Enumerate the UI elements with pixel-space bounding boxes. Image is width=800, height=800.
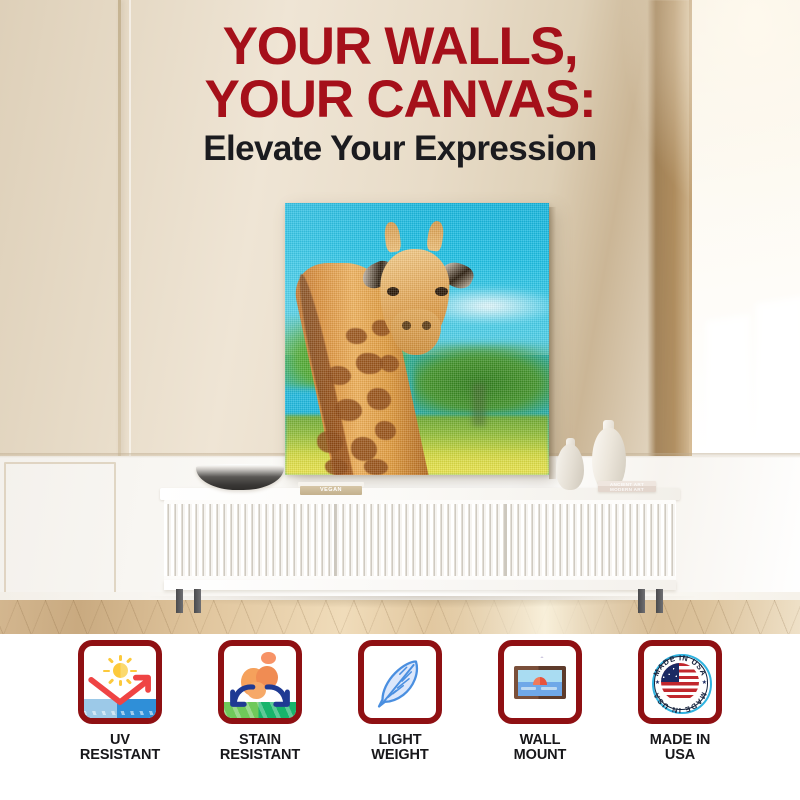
giraffe-eye-left [387,287,399,296]
uv-resistant-badge[interactable] [78,640,162,724]
reflection-arrow-icon [84,646,156,718]
light-weight-icon [364,646,436,718]
headline-subline: Elevate Your Expression [0,127,800,171]
door-seam [334,504,336,576]
sideboard-leg [176,589,183,613]
headline-line-1: YOUR WALLS, [0,22,800,72]
feature-label: WALL MOUNT [514,733,567,763]
feature-stain-resistant[interactable]: STAIN RESISTANT [198,640,322,763]
giraffe-print [285,203,549,475]
sideboard [160,488,680,600]
svg-text:MADE IN USA: MADE IN USA [651,691,708,715]
decor-vase-small [556,444,584,490]
promo-graphic: VEGAN ANCIENT ART MODERN ART YOUR WALLS,… [0,0,800,800]
stain-resistant-icon [224,646,296,718]
feature-label: LIGHT WEIGHT [371,733,428,763]
repel-arrows-icon [224,646,296,718]
sideboard-body [164,500,676,582]
fluted-panel [164,504,676,576]
headline-block: YOUR WALLS, YOUR CANVAS: Elevate Your Ex… [0,22,800,171]
feature-uv-resistant[interactable]: UV RESISTANT [58,640,182,763]
stain-resistant-badge[interactable] [218,640,302,724]
svg-text:MADE IN USA: MADE IN USA [651,653,708,677]
made-in-usa-icon: MADE IN USA MADE IN USA ★ ★ [644,646,716,718]
light-pane [706,315,750,472]
feature-wall-mount[interactable]: WALL MOUNT [478,640,602,763]
sideboard-base [164,580,676,590]
feature-light-weight[interactable]: LIGHT WEIGHT [338,640,462,763]
wall-mount-badge[interactable] [498,640,582,724]
decor-book-modern-art-label: MODERN ART [598,487,656,492]
sideboard-leg [656,589,663,613]
door-seam [505,504,507,576]
canvas-artwork [285,203,549,475]
decor-book-vegan-label: VEGAN [300,487,362,493]
giraffe [285,203,549,475]
wall-mount-icon [504,646,576,718]
feature-label: UV RESISTANT [80,733,160,763]
giraffe-eye-right [435,287,447,296]
feather-icon [371,652,429,712]
headline-line-2: YOUR CANVAS: [0,72,800,127]
room-scene-photo: VEGAN ANCIENT ART MODERN ART YOUR WALLS,… [0,0,800,634]
feature-badges: UV RESISTANT [0,634,800,800]
sideboard-leg [194,589,201,613]
feature-made-in-usa[interactable]: MADE IN USA MADE IN USA ★ ★ MADE IN USA [618,640,742,763]
feature-label: STAIN RESISTANT [220,733,300,763]
light-pane [756,296,800,464]
light-weight-badge[interactable] [358,640,442,724]
canvas-wrap-edge [549,207,556,479]
made-in-usa-badge[interactable]: MADE IN USA MADE IN USA ★ ★ [638,640,722,724]
uv-resistant-icon [84,646,156,718]
sideboard-leg [638,589,645,613]
feature-label: MADE IN USA [650,733,711,763]
